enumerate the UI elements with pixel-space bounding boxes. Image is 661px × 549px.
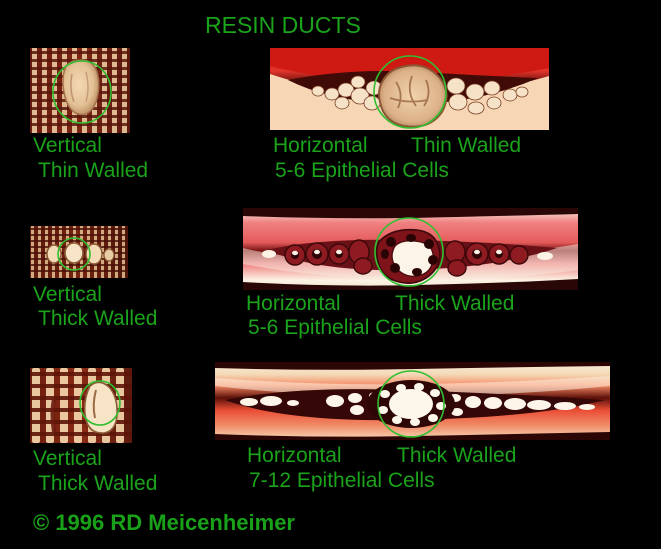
page-title: RESIN DUCTS	[205, 12, 361, 39]
vertical-thick-walled-large-micrograph	[30, 368, 132, 443]
copyright-notice: © 1996 RD Meicenheimer	[33, 510, 295, 536]
label-vertical-thick-walled-large-line2: Thick Walled	[38, 472, 157, 495]
horizontal-thick-walled-micrograph	[243, 208, 578, 290]
label-epithelial-cells-row1: 5-6 Epithelial Cells	[275, 159, 449, 182]
label-vertical-thick-walled-large-line1: Vertical	[33, 447, 102, 470]
label-vertical-thick-walled-line2: Thick Walled	[38, 307, 157, 330]
horizontal-thick-walled-large-micrograph	[215, 362, 610, 440]
label-vertical-thin-walled-line1: Vertical	[33, 134, 102, 157]
label-horizontal-thick-walled-row2: Horizontal	[246, 292, 341, 315]
label-horizontal-thick-walled-row3: Horizontal	[247, 444, 342, 467]
horizontal-thin-walled-micrograph	[270, 48, 549, 130]
label-epithelial-cells-row3: 7-12 Epithelial Cells	[249, 469, 435, 492]
label-horizontal-thin-walled: Horizontal	[273, 134, 368, 157]
label-vertical-thick-walled-line1: Vertical	[33, 283, 102, 306]
label-thick-walled-right-row3: Thick Walled	[397, 444, 516, 467]
label-vertical-thin-walled-line2: Thin Walled	[38, 159, 148, 182]
label-epithelial-cells-row2: 5-6 Epithelial Cells	[248, 316, 422, 339]
label-thick-walled-right-row2: Thick Walled	[395, 292, 514, 315]
label-thin-walled-right: Thin Walled	[411, 134, 521, 157]
vertical-thick-walled-micrograph	[30, 226, 128, 278]
slide-canvas: RESIN DUCTS	[0, 0, 661, 549]
vertical-thin-walled-micrograph	[30, 48, 130, 133]
